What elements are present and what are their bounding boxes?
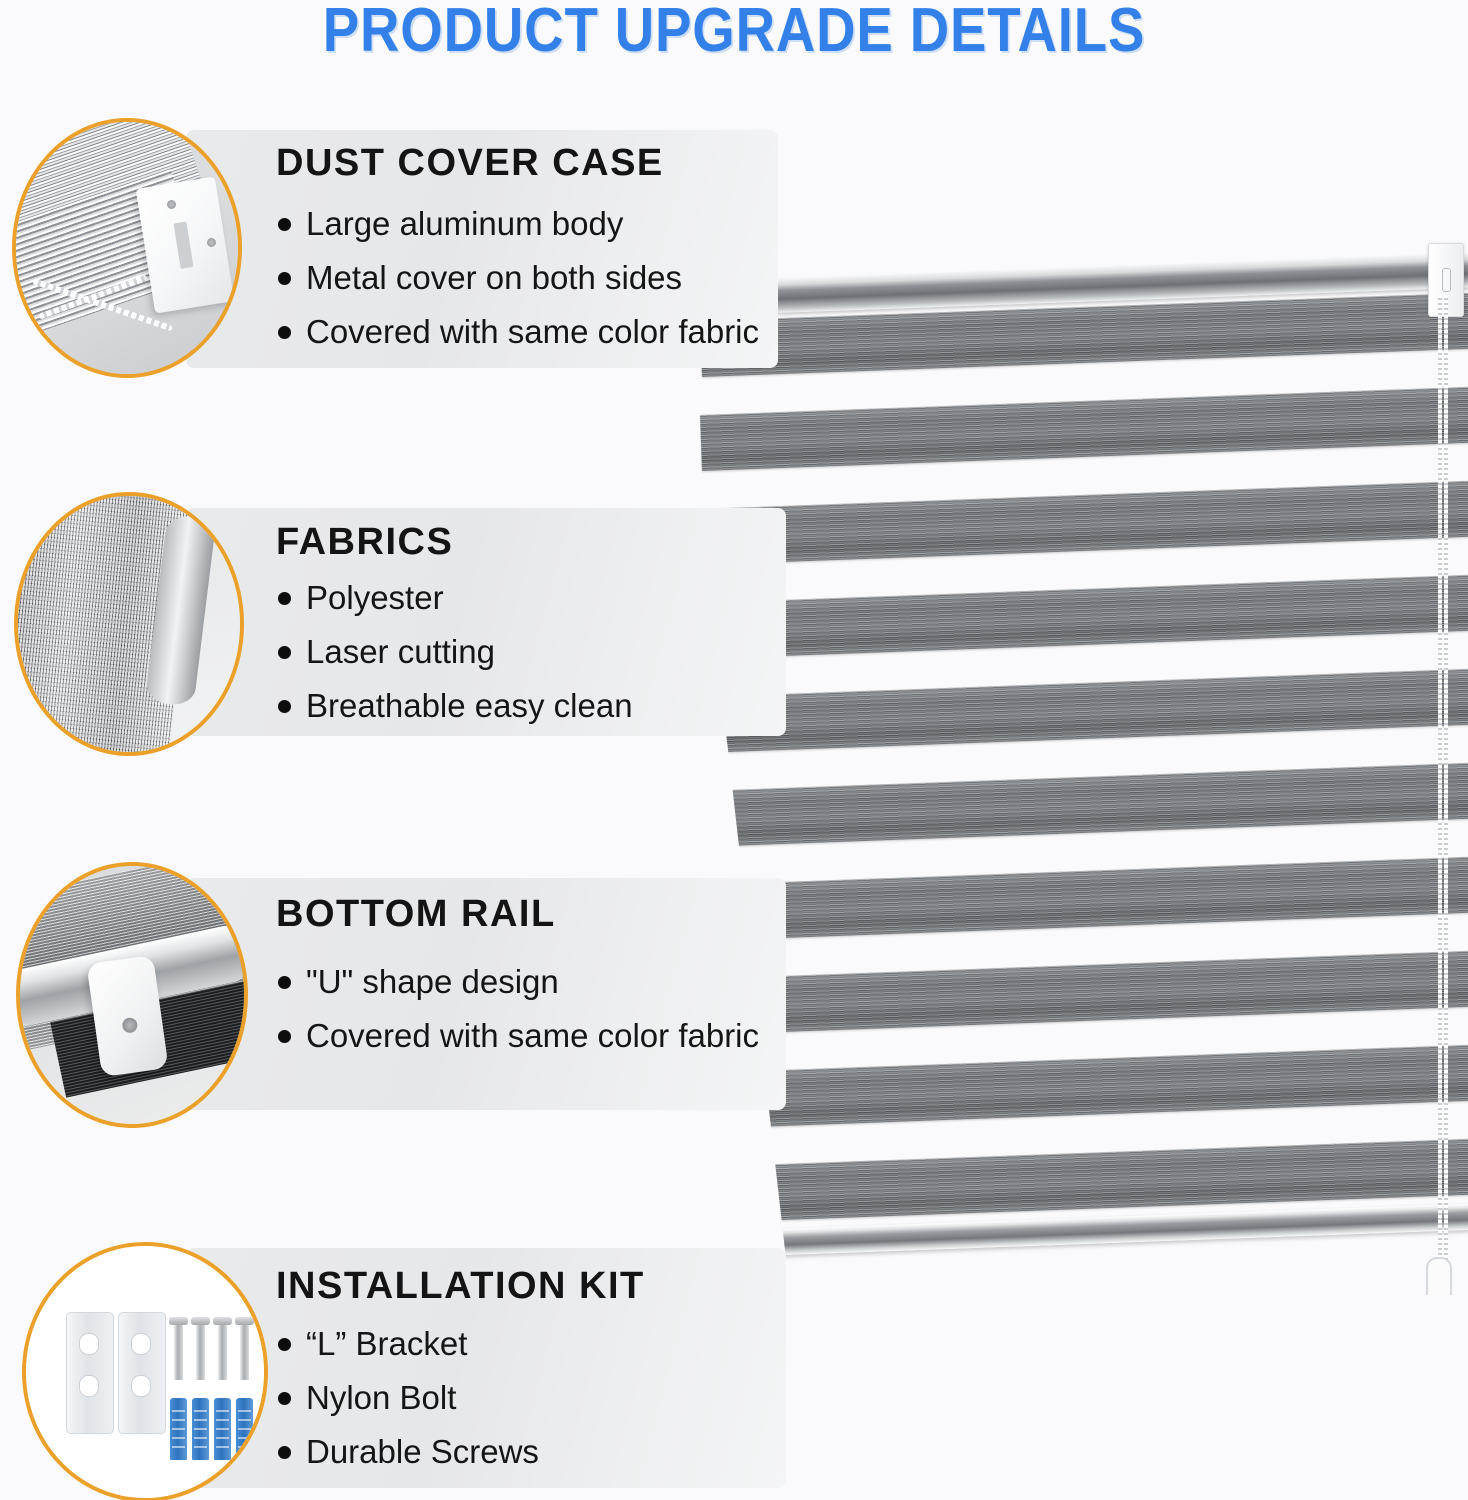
- screw-icon: [207, 238, 216, 247]
- fabric-band: [700, 762, 1468, 847]
- list-item-label: Covered with same color fabric: [306, 1017, 759, 1055]
- bead-chain-strand: [1438, 295, 1442, 1295]
- list-item-label: “L” Bracket: [306, 1325, 467, 1363]
- nylon-bolt-icon: [192, 1398, 209, 1460]
- list-item-label: Breathable easy clean: [306, 687, 633, 725]
- list-item-label: Metal cover on both sides: [306, 259, 682, 297]
- screw-icon: [196, 1322, 205, 1380]
- fabric-band: [700, 856, 1468, 941]
- fabric-band: [700, 668, 1468, 753]
- bottom-rail-image: [20, 866, 244, 1124]
- list-item-label: Polyester: [306, 579, 444, 617]
- bullet-dot-icon: [278, 1446, 291, 1459]
- bullet-dot-icon: [278, 646, 291, 659]
- bead-chain-connector: [1426, 1257, 1452, 1295]
- list-item: Breathable easy clean: [278, 687, 633, 725]
- bullet-list-dust-cover-case: Large aluminum body Metal cover on both …: [278, 205, 759, 367]
- dust-cover-case-image: [16, 122, 238, 374]
- list-item: Metal cover on both sides: [278, 259, 759, 297]
- installation-kit-image: [26, 1246, 264, 1498]
- list-item: Polyester: [278, 579, 633, 617]
- list-item: Large aluminum body: [278, 205, 759, 243]
- bullet-dot-icon: [278, 218, 291, 231]
- bullet-list-bottom-rail: "U" shape design Covered with same color…: [278, 963, 759, 1071]
- section-heading-dust-cover-case: DUST COVER CASE: [276, 142, 664, 185]
- bullet-dot-icon: [278, 592, 291, 605]
- list-item: Durable Screws: [278, 1433, 539, 1471]
- nylon-bolt-icon: [236, 1398, 253, 1460]
- l-bracket-icon: [118, 1312, 166, 1434]
- list-item-label: Durable Screws: [306, 1433, 539, 1471]
- list-item-label: Large aluminum body: [306, 205, 623, 243]
- screw-icon: [218, 1322, 227, 1380]
- left-edge-mask: [700, 225, 814, 1295]
- bullet-dot-icon: [278, 700, 291, 713]
- list-item: Covered with same color fabric: [278, 1017, 759, 1055]
- fabric-band: [700, 480, 1468, 565]
- section-heading-fabrics: FABRICS: [276, 521, 453, 564]
- blind-fabric-stack: [700, 225, 1468, 1295]
- bottom-rail-photo: [16, 862, 248, 1128]
- nylon-bolt-icon: [170, 1398, 187, 1460]
- bullet-dot-icon: [278, 1338, 291, 1351]
- fabric-band: [700, 386, 1468, 471]
- screw-icon: [167, 200, 176, 209]
- nylon-bolt-icon: [214, 1398, 231, 1460]
- bead-chain: [1438, 295, 1446, 1295]
- bullet-dot-icon: [278, 326, 291, 339]
- fabrics-photo: [14, 492, 244, 756]
- infographic-canvas: PRODUCT UPGRADE DETAILS: [0, 0, 1468, 1500]
- bullet-dot-icon: [278, 976, 291, 989]
- section-heading-bottom-rail: BOTTOM RAIL: [276, 893, 556, 936]
- fabric-band: [700, 950, 1468, 1035]
- fabrics-image: [18, 496, 240, 752]
- list-item-label: Laser cutting: [306, 633, 495, 671]
- list-item-label: "U" shape design: [306, 963, 559, 1001]
- list-item: “L” Bracket: [278, 1325, 539, 1363]
- screw-icon: [174, 1322, 183, 1380]
- list-item: "U" shape design: [278, 963, 759, 1001]
- l-bracket-icon: [66, 1312, 114, 1434]
- zebra-roller-blind: [700, 225, 1468, 1295]
- fabric-band: [700, 574, 1468, 659]
- list-item: Laser cutting: [278, 633, 633, 671]
- bullet-dot-icon: [278, 272, 291, 285]
- bullet-list-fabrics: Polyester Laser cutting Breathable easy …: [278, 579, 633, 741]
- bead-chain-strand: [1444, 295, 1448, 1295]
- list-item: Covered with same color fabric: [278, 313, 759, 351]
- bullet-dot-icon: [278, 1392, 291, 1405]
- list-item: Nylon Bolt: [278, 1379, 539, 1417]
- bullet-list-installation-kit: “L” Bracket Nylon Bolt Durable Screws: [278, 1325, 539, 1487]
- list-item-label: Covered with same color fabric: [306, 313, 759, 351]
- installation-kit-photo: [22, 1242, 268, 1500]
- list-item-label: Nylon Bolt: [306, 1379, 456, 1417]
- section-heading-installation-kit: INSTALLATION KIT: [276, 1265, 645, 1308]
- screw-icon: [240, 1322, 249, 1380]
- dust-cover-case-photo: [12, 118, 242, 378]
- page-title: PRODUCT UPGRADE DETAILS: [88, 0, 1380, 66]
- fabric-band: [700, 1044, 1468, 1129]
- bullet-dot-icon: [278, 1030, 291, 1043]
